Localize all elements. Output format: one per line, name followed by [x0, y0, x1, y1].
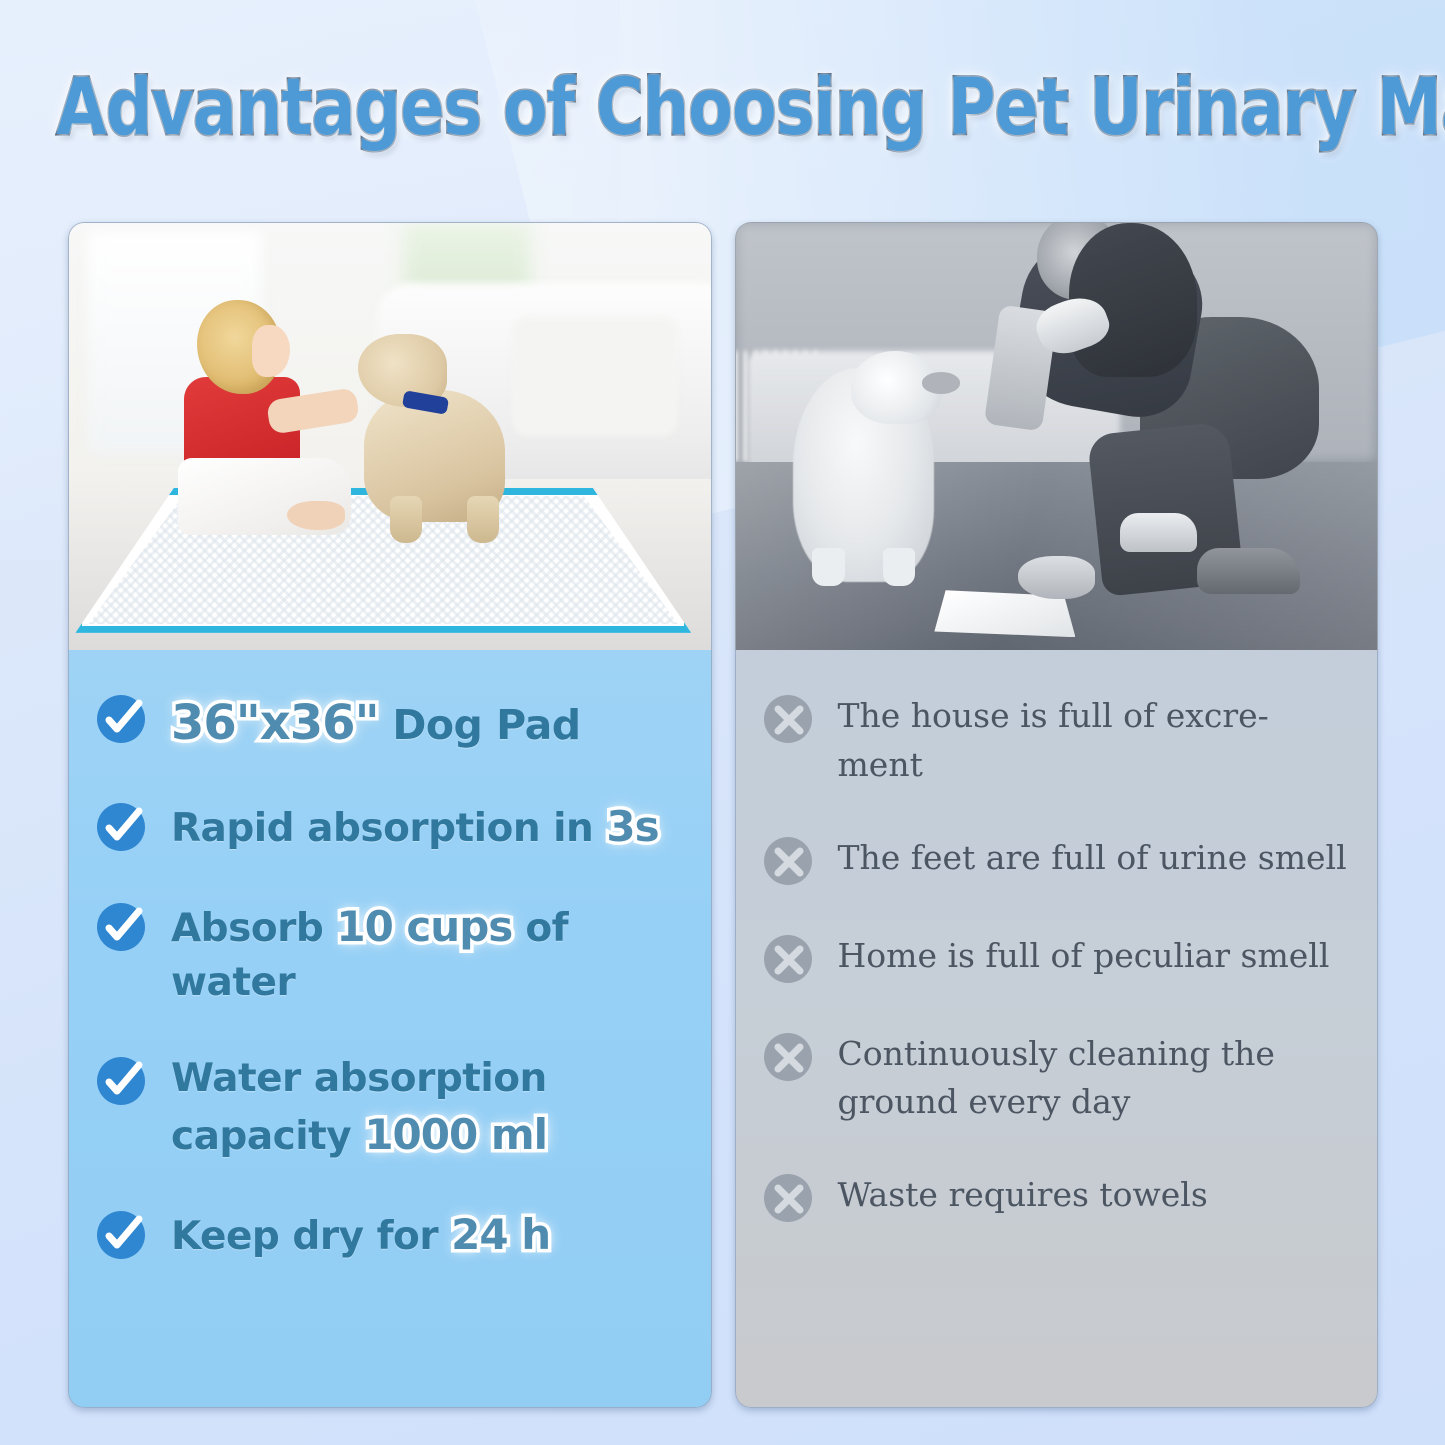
check-circle-icon — [95, 692, 149, 746]
pros-item-highlight: 24 h — [451, 1210, 550, 1259]
pros-item-prefix: Absorb — [171, 906, 336, 951]
pros-column: 36"x36" Dog Pad Rapid absorption in 3s A… — [68, 222, 712, 1408]
cons-photo — [735, 222, 1379, 650]
cons-item-text: Waste requires towels — [838, 1167, 1208, 1220]
check-circle-icon — [95, 1208, 149, 1262]
pros-list-item: Keep dry for 24 h — [95, 1204, 685, 1264]
photo-woman-shoe — [1197, 548, 1300, 595]
pros-item-suffix: Dog Pad — [379, 701, 581, 749]
pros-item-prefix: Rapid absorption in — [171, 806, 606, 851]
pros-item-text: Keep dry for 24 h — [171, 1204, 550, 1264]
pros-list: 36"x36" Dog Pad Rapid absorption in 3s A… — [68, 650, 712, 1408]
photo-dog-leg — [812, 548, 844, 586]
photo-child-face — [252, 325, 290, 376]
cons-list-item: Continuously cleaning the ground every d… — [762, 1026, 1352, 1128]
x-circle-icon — [762, 932, 816, 986]
cons-item-text: The feet are full of urine smell — [838, 830, 1347, 883]
page-title-text: Advantages of Choosing Pet Urinary Mats — [56, 68, 1445, 146]
comparison-columns: 36"x36" Dog Pad Rapid absorption in 3s A… — [68, 222, 1378, 1408]
check-circle-icon — [95, 1054, 149, 1108]
photo-dog-leg — [883, 548, 915, 586]
photo-woman-wiping-hand — [1018, 556, 1095, 599]
cons-item-text: Home is full of peculiar smell — [838, 928, 1330, 981]
pros-list-item: 36"x36" Dog Pad — [95, 688, 685, 756]
cons-item-text: Continuously cleaning the ground every d… — [838, 1026, 1352, 1128]
cons-column: The house is full of excre-ment The feet… — [735, 222, 1379, 1408]
pros-item-highlight: 10 cups — [336, 902, 512, 951]
cons-list-item: Home is full of peculiar smell — [762, 928, 1352, 986]
pros-item-text: Water absorption capacity 1000 ml — [171, 1050, 685, 1164]
cons-list: The house is full of excre-ment The feet… — [735, 650, 1379, 1408]
photo-child-foot — [287, 501, 345, 531]
pros-item-highlight: 1000 ml — [364, 1110, 547, 1159]
pros-item-highlight: 36"x36" — [171, 695, 379, 751]
check-circle-icon — [95, 800, 149, 854]
pros-photo — [68, 222, 712, 650]
pros-list-item: Absorb 10 cups of water — [95, 896, 685, 1010]
photo-puppy-leg — [467, 496, 499, 543]
photo-woman-shoe — [1120, 513, 1197, 551]
pros-item-text: Absorb 10 cups of water — [171, 896, 685, 1010]
pros-item-text: 36"x36" Dog Pad — [171, 688, 581, 756]
cons-list-item: The feet are full of urine smell — [762, 830, 1352, 888]
infographic-poster: Advantages of Choosing Pet Urinary Mats — [0, 0, 1445, 1445]
pros-list-item: Rapid absorption in 3s — [95, 796, 685, 856]
pros-list-item: Water absorption capacity 1000 ml — [95, 1050, 685, 1164]
photo-dog-snout — [922, 372, 960, 393]
pros-item-highlight: 3s — [606, 802, 658, 851]
photo-cushion — [512, 317, 679, 437]
page-title: Advantages of Choosing Pet Urinary Mats — [0, 72, 1445, 142]
photo-pet-pad-texture — [88, 496, 678, 624]
photo-puppy-leg — [390, 496, 422, 543]
x-circle-icon — [762, 1171, 816, 1225]
x-circle-icon — [762, 1030, 816, 1084]
pros-item-text: Rapid absorption in 3s — [171, 796, 659, 856]
x-circle-icon — [762, 692, 816, 746]
cons-item-text: The house is full of excre-ment — [838, 688, 1352, 790]
cons-list-item: The house is full of excre-ment — [762, 688, 1352, 790]
pros-item-prefix: Keep dry for — [171, 1214, 451, 1259]
x-circle-icon — [762, 834, 816, 888]
check-circle-icon — [95, 900, 149, 954]
cons-list-item: Waste requires towels — [762, 1167, 1352, 1225]
